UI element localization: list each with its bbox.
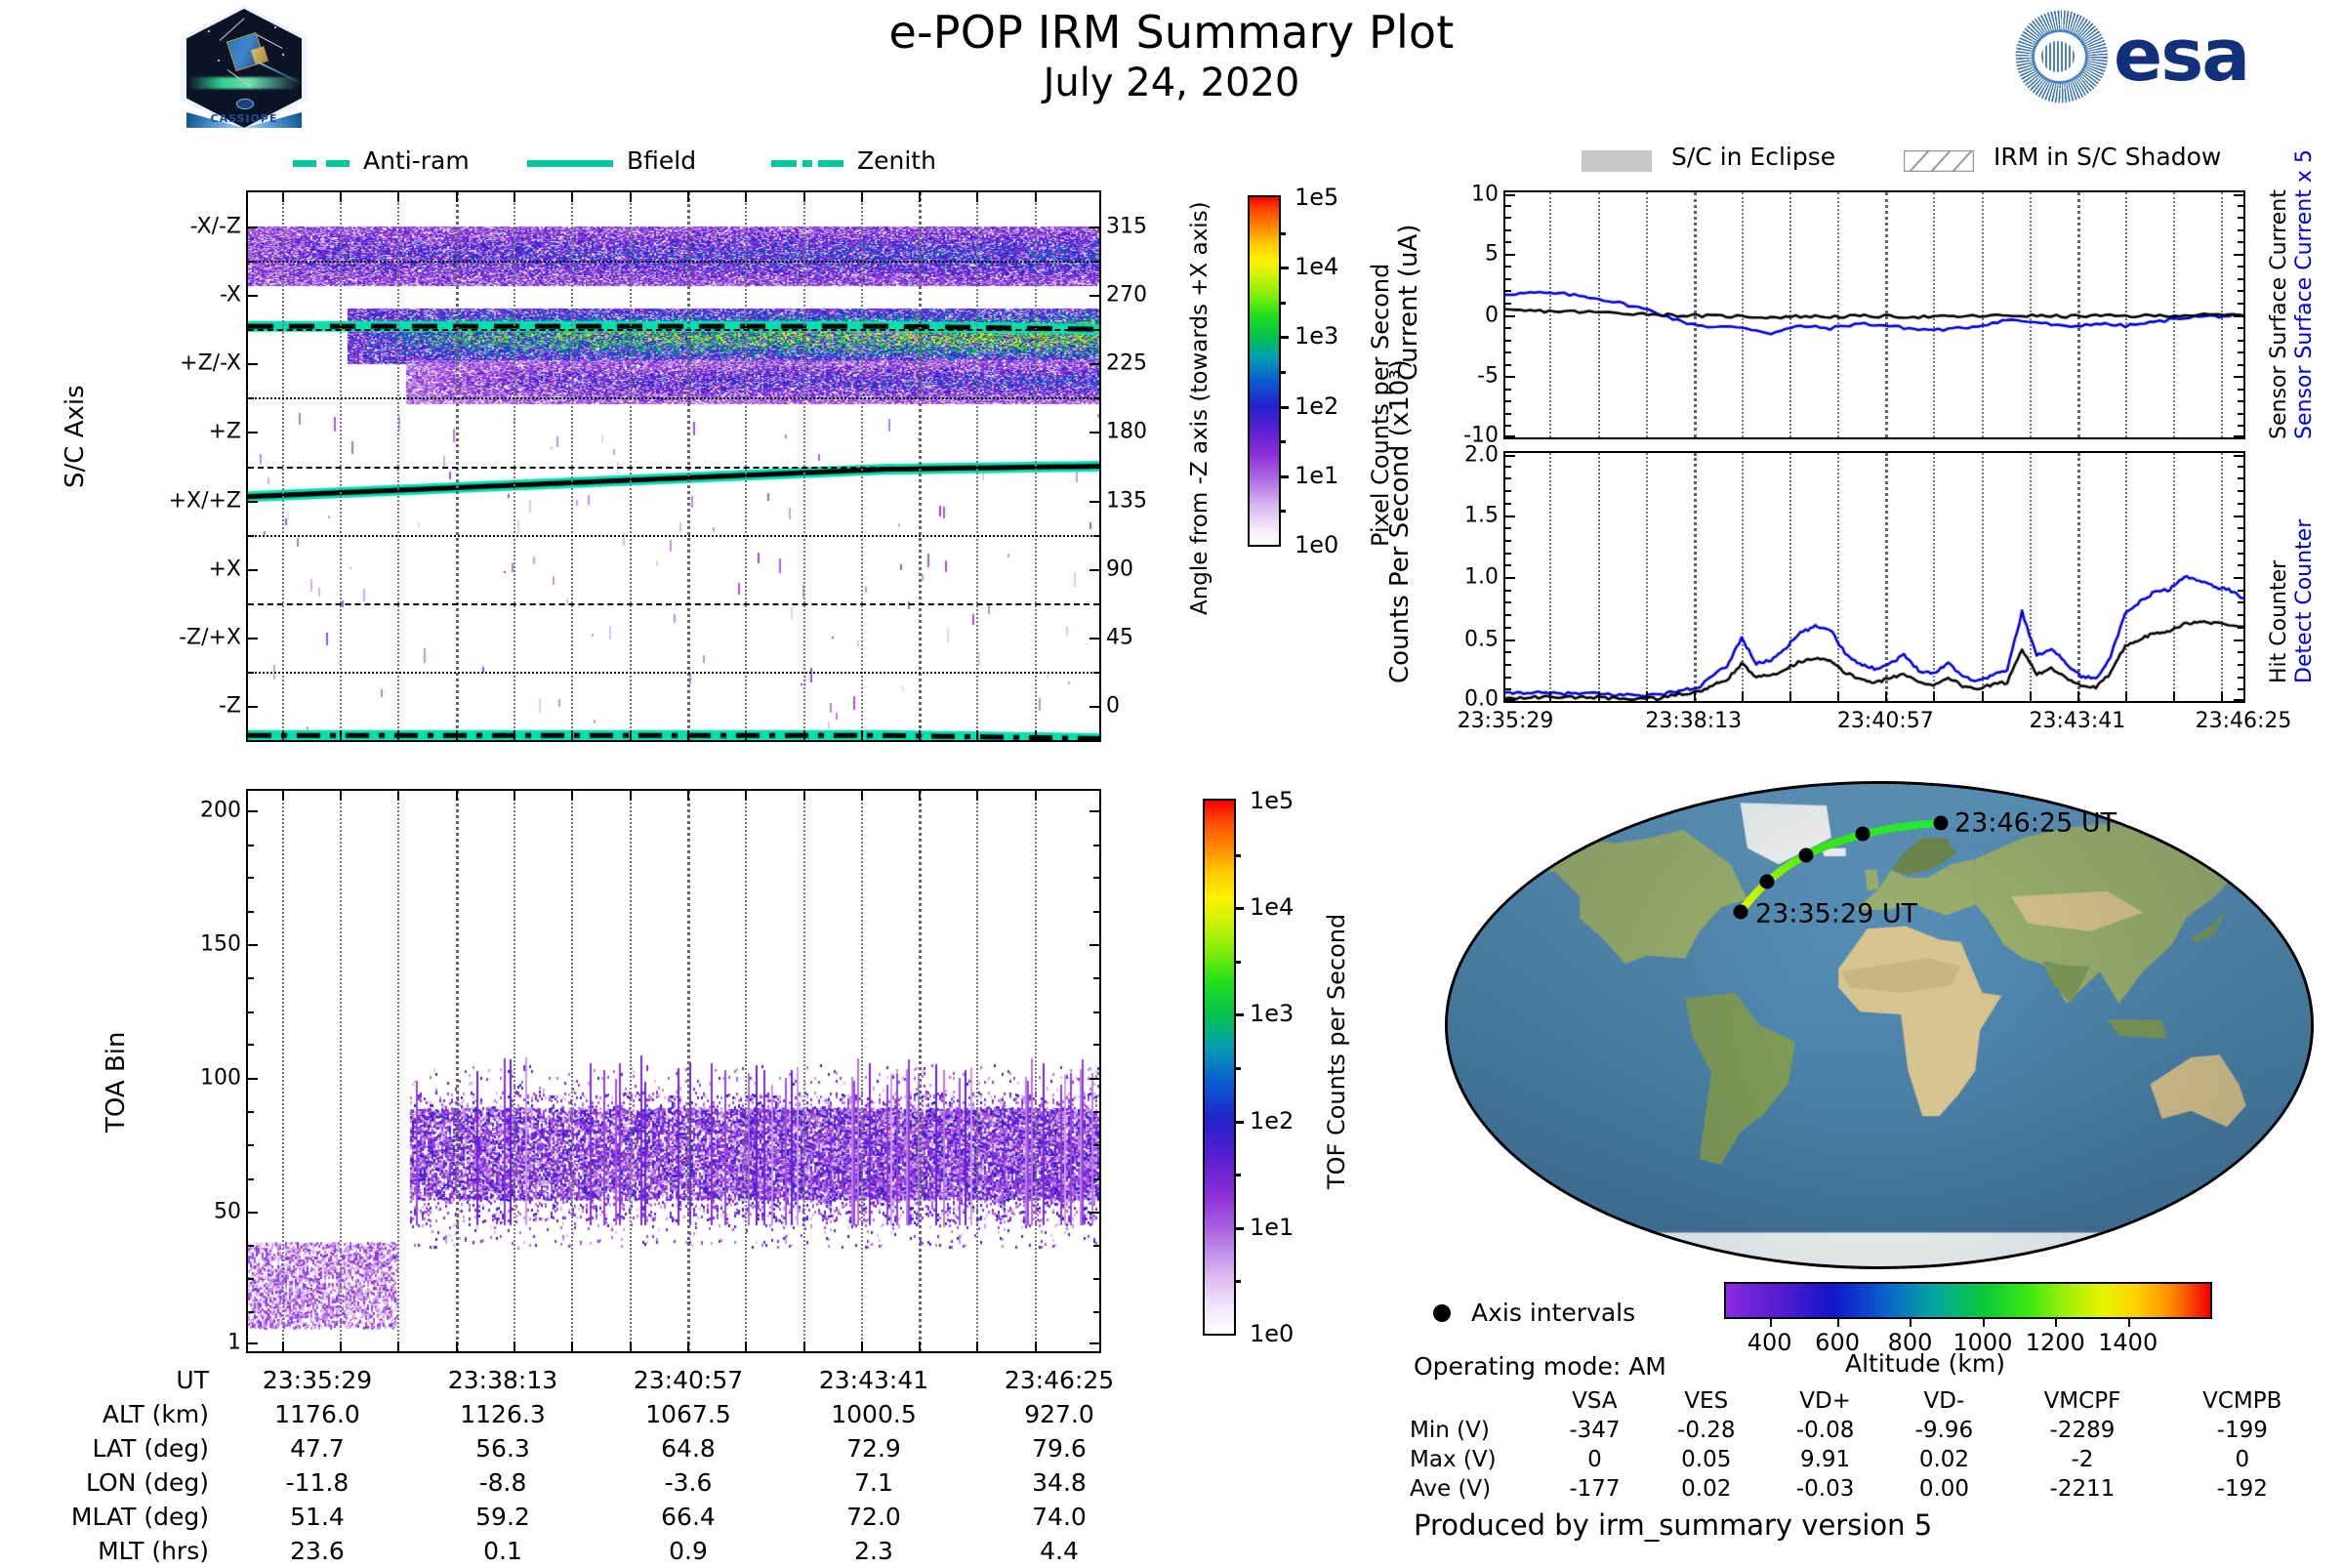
counts-xtick-2: 23:40:57	[1837, 709, 1934, 733]
angle-ytick-7: -Z	[219, 693, 241, 718]
volt-cell: 0.02	[1885, 1445, 2004, 1474]
geo-cell: -8.8	[410, 1465, 596, 1500]
counts-xtick-4: 23:46:25	[2196, 709, 2292, 733]
tof-cbar-tick-1: 1e4	[1250, 893, 1294, 921]
geo-row-label: UT	[0, 1363, 225, 1397]
geo-cell: 1000.5	[781, 1397, 966, 1431]
volt-row-label: Ave (V)	[1406, 1474, 1542, 1504]
geo-cell: 74.0	[966, 1500, 1152, 1534]
angle-ytick-5: +X	[208, 557, 241, 581]
table-row: LON (deg)-11.8-8.8-3.67.134.8	[0, 1465, 1152, 1500]
volt-row-label: Min (V)	[1406, 1416, 1542, 1445]
angle-ytick-4: +X/+Z	[169, 488, 241, 513]
geo-row-label: MLAT (deg)	[0, 1500, 225, 1534]
legend-label-eclipse: S/C in Eclipse	[1671, 143, 1835, 171]
volt-column-header: VCMPB	[2161, 1386, 2323, 1416]
counts-panel-ylabel: Counts Per Second (x10³)	[1386, 430, 1416, 683]
table-row: Max (V)00.059.910.02-20	[1406, 1445, 2323, 1474]
volt-cell: -177	[1542, 1474, 1647, 1504]
toa-ytick-3: 50	[214, 1200, 241, 1224]
legend-label-anti-ram: Anti-ram	[363, 146, 470, 175]
angle-spectrogram-plot[interactable]: -X/-Z -X +Z/-X +Z +X/+Z +X -Z/+X -Z 315 …	[246, 190, 1101, 742]
angle-y2tick-2: 225	[1106, 351, 1147, 376]
volt-cell: -2211	[2003, 1474, 2160, 1504]
geo-cell: 23:35:29	[225, 1363, 410, 1397]
pixel-cbar-tick-5: 1e0	[1295, 531, 1338, 558]
geo-cell: 34.8	[966, 1465, 1152, 1500]
angle-y2tick-4: 135	[1106, 488, 1147, 513]
sensor-surface-current-plot[interactable]: 10 5 0 -5 -10	[1503, 190, 2245, 439]
current-panel-ylabel: Current (uA)	[1394, 225, 1423, 381]
geo-cell: 72.0	[781, 1500, 966, 1534]
volt-row-label: Max (V)	[1406, 1445, 1542, 1474]
volt-column-header: VES	[1647, 1386, 1766, 1416]
volt-cell: -199	[2161, 1416, 2323, 1445]
angle-panel-ylabel: S/C Axis	[61, 385, 90, 488]
volt-cell: -192	[2161, 1474, 2323, 1504]
geo-cell: 23:38:13	[410, 1363, 596, 1397]
counts-ytick-4: 0.0	[1464, 686, 1499, 711]
toa-spectrogram-plot[interactable]: 200 150 100 50 1	[246, 789, 1101, 1353]
current-ytick-3: -5	[1477, 364, 1499, 389]
counts-xtick-1: 23:38:13	[1645, 709, 1742, 733]
geo-cell: 79.6	[966, 1431, 1152, 1465]
orbit-track	[1445, 781, 2314, 1269]
volt-cell: -2289	[2003, 1416, 2160, 1445]
geo-cell: 2.3	[781, 1534, 966, 1568]
orbit-start-label: 23:35:29 UT	[1755, 899, 1917, 929]
legend-label-zenith: Zenith	[857, 146, 936, 175]
table-row: ALT (km)1176.01126.31067.51000.5927.0	[0, 1397, 1152, 1431]
table-row: UT23:35:2923:38:1323:40:5723:43:4123:46:…	[0, 1363, 1152, 1397]
pixel-counts-colorbar: 1e5 1e4 1e3 1e2 1e1 1e0	[1248, 195, 1281, 547]
volt-cell: -0.03	[1766, 1474, 1885, 1504]
alt-cbar-tick-4: 1200	[2026, 1329, 2085, 1356]
orbit-point-3	[1856, 827, 1870, 842]
page-date: July 24, 2020	[0, 61, 2343, 105]
altitude-colorbar: 400 600 800 1000 1200 1400	[1724, 1282, 2212, 1319]
geo-row-label: MLT (hrs)	[0, 1534, 225, 1568]
angle-ytick-0: -X/-Z	[190, 215, 241, 239]
geo-cell: 51.4	[225, 1500, 410, 1534]
tof-cbar-tick-0: 1e5	[1250, 787, 1294, 814]
volt-cell: 0	[2161, 1445, 2323, 1474]
geo-cell: 4.4	[966, 1534, 1152, 1568]
volt-cell: 9.91	[1766, 1445, 1885, 1474]
tof-cbar-tick-4: 1e1	[1250, 1214, 1294, 1241]
geo-row-label: LAT (deg)	[0, 1431, 225, 1465]
volt-cell: -0.28	[1647, 1416, 1766, 1445]
geo-cell: 72.9	[781, 1431, 966, 1465]
angle-panel-y2label: Angle from -Z axis (towards +X axis)	[1187, 201, 1213, 615]
pixel-cbar-tick-1: 1e4	[1295, 253, 1338, 280]
counts-ytick-0: 2.0	[1464, 443, 1499, 468]
legend-swatch-irm-shadow	[1904, 150, 1974, 172]
angle-y2tick-7: 0	[1106, 693, 1120, 718]
orbit-end-label: 23:46:25 UT	[1954, 808, 2117, 839]
geo-row-label: ALT (km)	[0, 1397, 225, 1431]
current-ytick-2: 0	[1485, 303, 1499, 327]
legend-label-bfield: Bfield	[627, 146, 696, 175]
pixel-cbar-tick-0: 1e5	[1295, 184, 1338, 211]
toa-ytick-4: 1	[227, 1331, 241, 1355]
angle-panel-legend: Anti-ram Bfield Zenith	[293, 146, 1035, 186]
page-title: e-POP IRM Summary Plot	[0, 6, 2343, 59]
geo-cell: 47.7	[225, 1431, 410, 1465]
geo-cell: 0.9	[596, 1534, 781, 1568]
alt-cbar-tick-0: 400	[1747, 1329, 1792, 1356]
current-right-label-black: Sensor Surface Current	[2267, 189, 2291, 439]
angle-y2tick-1: 270	[1106, 283, 1147, 308]
alt-cbar-tick-5: 1400	[2098, 1329, 2158, 1356]
table-header-row: VSAVESVD+VD-VMCPFVCMPB	[1406, 1386, 2323, 1416]
volt-header-blank	[1406, 1386, 1542, 1416]
current-ytick-0: 10	[1471, 183, 1499, 207]
tof-cbar-tick-3: 1e2	[1250, 1107, 1294, 1135]
tof-cbar-tick-2: 1e3	[1250, 1000, 1294, 1027]
geo-cell: 23.6	[225, 1534, 410, 1568]
counts-xtick-0: 23:35:29	[1458, 709, 1554, 733]
footer-produced-by: Produced by irm_summary version 5	[1414, 1508, 1932, 1542]
counts-ytick-1: 1.5	[1464, 503, 1499, 527]
legend-label-irm-shadow: IRM in S/C Shadow	[1994, 143, 2221, 171]
geo-cell: 1176.0	[225, 1397, 410, 1431]
volt-cell: 0	[1542, 1445, 1647, 1474]
pixel-cbar-tick-3: 1e2	[1295, 392, 1338, 420]
geo-cell: 66.4	[596, 1500, 781, 1534]
tof-cbar-tick-5: 1e0	[1250, 1320, 1294, 1347]
volt-cell: -9.96	[1885, 1416, 2004, 1445]
legend-swatch-eclipse	[1582, 150, 1652, 172]
table-row: Min (V)-347-0.28-0.08-9.96-2289-199	[1406, 1416, 2323, 1445]
orbit-point-end	[1934, 816, 1949, 831]
table-row: MLAT (deg)51.459.266.472.074.0	[0, 1500, 1152, 1534]
volt-cell: 0.02	[1647, 1474, 1766, 1504]
geo-cell: 59.2	[410, 1500, 596, 1534]
angle-y2tick-0: 315	[1106, 215, 1147, 239]
axis-intervals-label: Axis intervals	[1471, 1299, 1635, 1327]
current-panel-legend: S/C in Eclipse IRM in S/C Shadow	[1582, 143, 2284, 180]
volt-column-header: VD-	[1885, 1386, 2004, 1416]
counts-ytick-3: 0.5	[1464, 627, 1499, 651]
geo-cell: -11.8	[225, 1465, 410, 1500]
volt-cell: 0.00	[1885, 1474, 2004, 1504]
volt-cell: 0.05	[1647, 1445, 1766, 1474]
table-row: Ave (V)-1770.02-0.030.00-2211-192	[1406, 1474, 2323, 1504]
toa-panel-ylabel: TOA Bin	[102, 1032, 131, 1133]
orbit-world-map[interactable]: 23:46:25 UT 23:35:29 UT	[1445, 781, 2314, 1269]
toa-ytick-0: 200	[200, 799, 241, 823]
pixel-cbar-tick-4: 1e1	[1295, 462, 1338, 489]
orbit-point-start	[1734, 905, 1748, 920]
angle-ytick-6: -Z/+X	[179, 625, 241, 649]
voltage-summary-table: VSAVESVD+VD-VMCPFVCMPB Min (V)-347-0.28-…	[1406, 1386, 2323, 1504]
mission-patch-label: CASSIOPE	[181, 112, 308, 125]
current-right-label-blue: Sensor Surface Current x 5	[2292, 149, 2317, 439]
counts-ytick-2: 1.0	[1464, 565, 1499, 590]
geo-cell: 927.0	[966, 1397, 1152, 1431]
esa-logo-icon: esa	[2006, 8, 2299, 105]
table-row: MLT (hrs)23.60.10.92.34.4	[0, 1534, 1152, 1568]
tof-counts-colorbar-title: TOF Counts per Second	[1323, 914, 1350, 1189]
axis-interval-dot-icon	[1433, 1304, 1451, 1322]
geo-cell: 7.1	[781, 1465, 966, 1500]
angle-ytick-2: +Z/-X	[180, 351, 241, 376]
esa-wordmark: esa	[2114, 14, 2248, 98]
geo-cell: 56.3	[410, 1431, 596, 1465]
legend-swatch-anti-ram-2	[326, 160, 349, 167]
table-row: LAT (deg)47.756.364.872.979.6	[0, 1431, 1152, 1465]
volt-cell: -0.08	[1766, 1416, 1885, 1445]
geo-cell: 1067.5	[596, 1397, 781, 1431]
geo-cell: -3.6	[596, 1465, 781, 1500]
altitude-colorbar-title: Altitude (km)	[1845, 1349, 2005, 1378]
angle-y2tick-3: 180	[1106, 420, 1147, 444]
geo-cell: 1126.3	[410, 1397, 596, 1431]
orbit-point-1	[1760, 875, 1775, 889]
counts-right-label-black: Hit Counter	[2267, 560, 2291, 683]
volt-column-header: VD+	[1766, 1386, 1885, 1416]
counts-xtick-3: 23:43:41	[2029, 709, 2125, 733]
geo-cell: 23:43:41	[781, 1363, 966, 1397]
legend-swatch-zenith-a	[771, 160, 797, 167]
counts-right-label-blue: Detect Counter	[2292, 519, 2317, 683]
geo-row-label: LON (deg)	[0, 1465, 225, 1500]
geo-cell: 0.1	[410, 1534, 596, 1568]
pixel-cbar-tick-2: 1e3	[1295, 322, 1338, 350]
angle-y2tick-6: 45	[1106, 625, 1133, 649]
legend-swatch-bfield	[527, 160, 613, 167]
cassiope-mission-patch-icon: CASSIOPE	[181, 5, 308, 132]
legend-swatch-anti-ram	[293, 160, 316, 167]
volt-cell: -347	[1542, 1416, 1647, 1445]
angle-ytick-1: -X	[220, 283, 241, 308]
toa-ytick-2: 100	[200, 1065, 241, 1090]
toa-ytick-1: 150	[200, 931, 241, 956]
legend-swatch-zenith-b	[802, 160, 812, 167]
legend-swatch-zenith-c	[818, 160, 843, 167]
orbit-point-2	[1799, 848, 1814, 863]
current-ytick-1: 5	[1485, 241, 1499, 266]
geophysical-parameters-table: UT23:35:2923:38:1323:40:5723:43:4123:46:…	[0, 1363, 1152, 1568]
operating-mode-label: Operating mode: AM	[1414, 1352, 1666, 1381]
volt-cell: -2	[2003, 1445, 2160, 1474]
angle-ytick-3: +Z	[208, 420, 241, 444]
counts-per-second-plot[interactable]: 2.0 1.5 1.0 0.5 0.0 23:35:29 23:38:13 23…	[1503, 451, 2245, 703]
geo-cell: 23:40:57	[596, 1363, 781, 1397]
volt-column-header: VMCPF	[2003, 1386, 2160, 1416]
counts-ylabel-text: Counts Per Second (x10³)	[1385, 359, 1415, 683]
volt-column-header: VSA	[1542, 1386, 1647, 1416]
tof-counts-colorbar: 1e5 1e4 1e3 1e2 1e1 1e0	[1203, 799, 1236, 1336]
angle-y2tick-5: 90	[1106, 557, 1133, 581]
geo-cell: 23:46:25	[966, 1363, 1152, 1397]
geo-cell: 64.8	[596, 1431, 781, 1465]
